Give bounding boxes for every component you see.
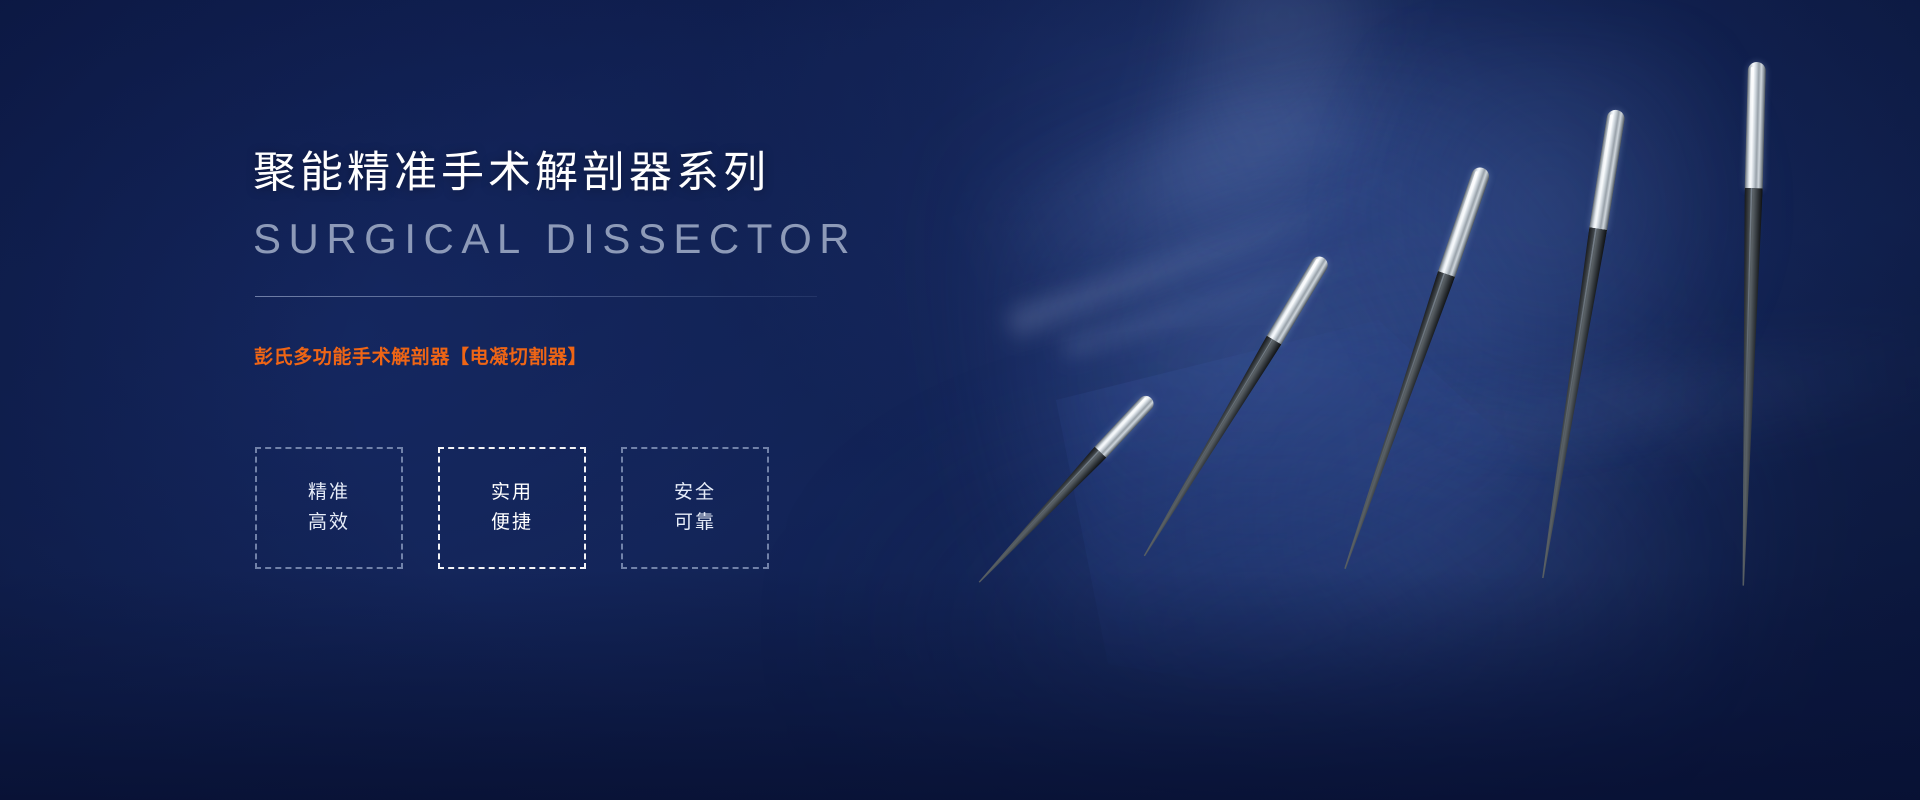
feature-box-precision: 精准 高效 — [255, 447, 403, 569]
banner-content: 聚能精准手术解剖器系列 SURGICAL DISSECTOR 彭氏多功能手术解剖… — [253, 0, 893, 800]
feature-box-practical: 实用 便捷 — [438, 447, 586, 569]
instrument-3-metal-cap — [1437, 165, 1491, 279]
instrument-5 — [1728, 62, 1772, 583]
title-divider — [255, 296, 817, 297]
instrument-1-shaft — [973, 447, 1106, 588]
instrument-2-metal-cap — [1266, 253, 1331, 346]
instrument-1-metal-cap — [1093, 393, 1157, 459]
instrument-4-metal-cap — [1589, 109, 1626, 232]
instrument-3 — [1332, 163, 1497, 570]
instrument-2 — [1134, 251, 1336, 561]
product-subtitle: 彭氏多功能手术解剖器【电凝切割器】 — [254, 342, 587, 369]
instrument-5-metal-cap — [1745, 62, 1766, 190]
feature-box-safety-line2: 可靠 — [674, 508, 716, 538]
feature-box-precision-line1: 精准 — [308, 478, 350, 508]
instrument-1 — [971, 389, 1161, 590]
instrument-5-shaft — [1734, 188, 1762, 586]
feature-box-practical-line1: 实用 — [491, 478, 533, 508]
feature-box-safety: 安全 可靠 — [621, 447, 769, 569]
instrument-2-shaft — [1137, 336, 1281, 561]
feature-box-precision-line2: 高效 — [308, 508, 350, 538]
instrument-4 — [1529, 108, 1632, 577]
instrument-4-shaft — [1534, 227, 1607, 579]
instrument-3-shaft — [1336, 271, 1455, 572]
banner-title-english: SURGICAL DISSECTOR — [253, 215, 857, 263]
instrument-group — [1150, 0, 1920, 800]
banner-title-chinese: 聚能精准手术解剖器系列 — [253, 148, 770, 199]
surgical-dissector-banner: 聚能精准手术解剖器系列 SURGICAL DISSECTOR 彭氏多功能手术解剖… — [0, 0, 1920, 800]
feature-box-safety-line1: 安全 — [674, 478, 716, 508]
feature-box-practical-line2: 便捷 — [491, 508, 533, 538]
feature-box-row: 精准 高效 实用 便捷 安全 可靠 — [255, 447, 769, 569]
